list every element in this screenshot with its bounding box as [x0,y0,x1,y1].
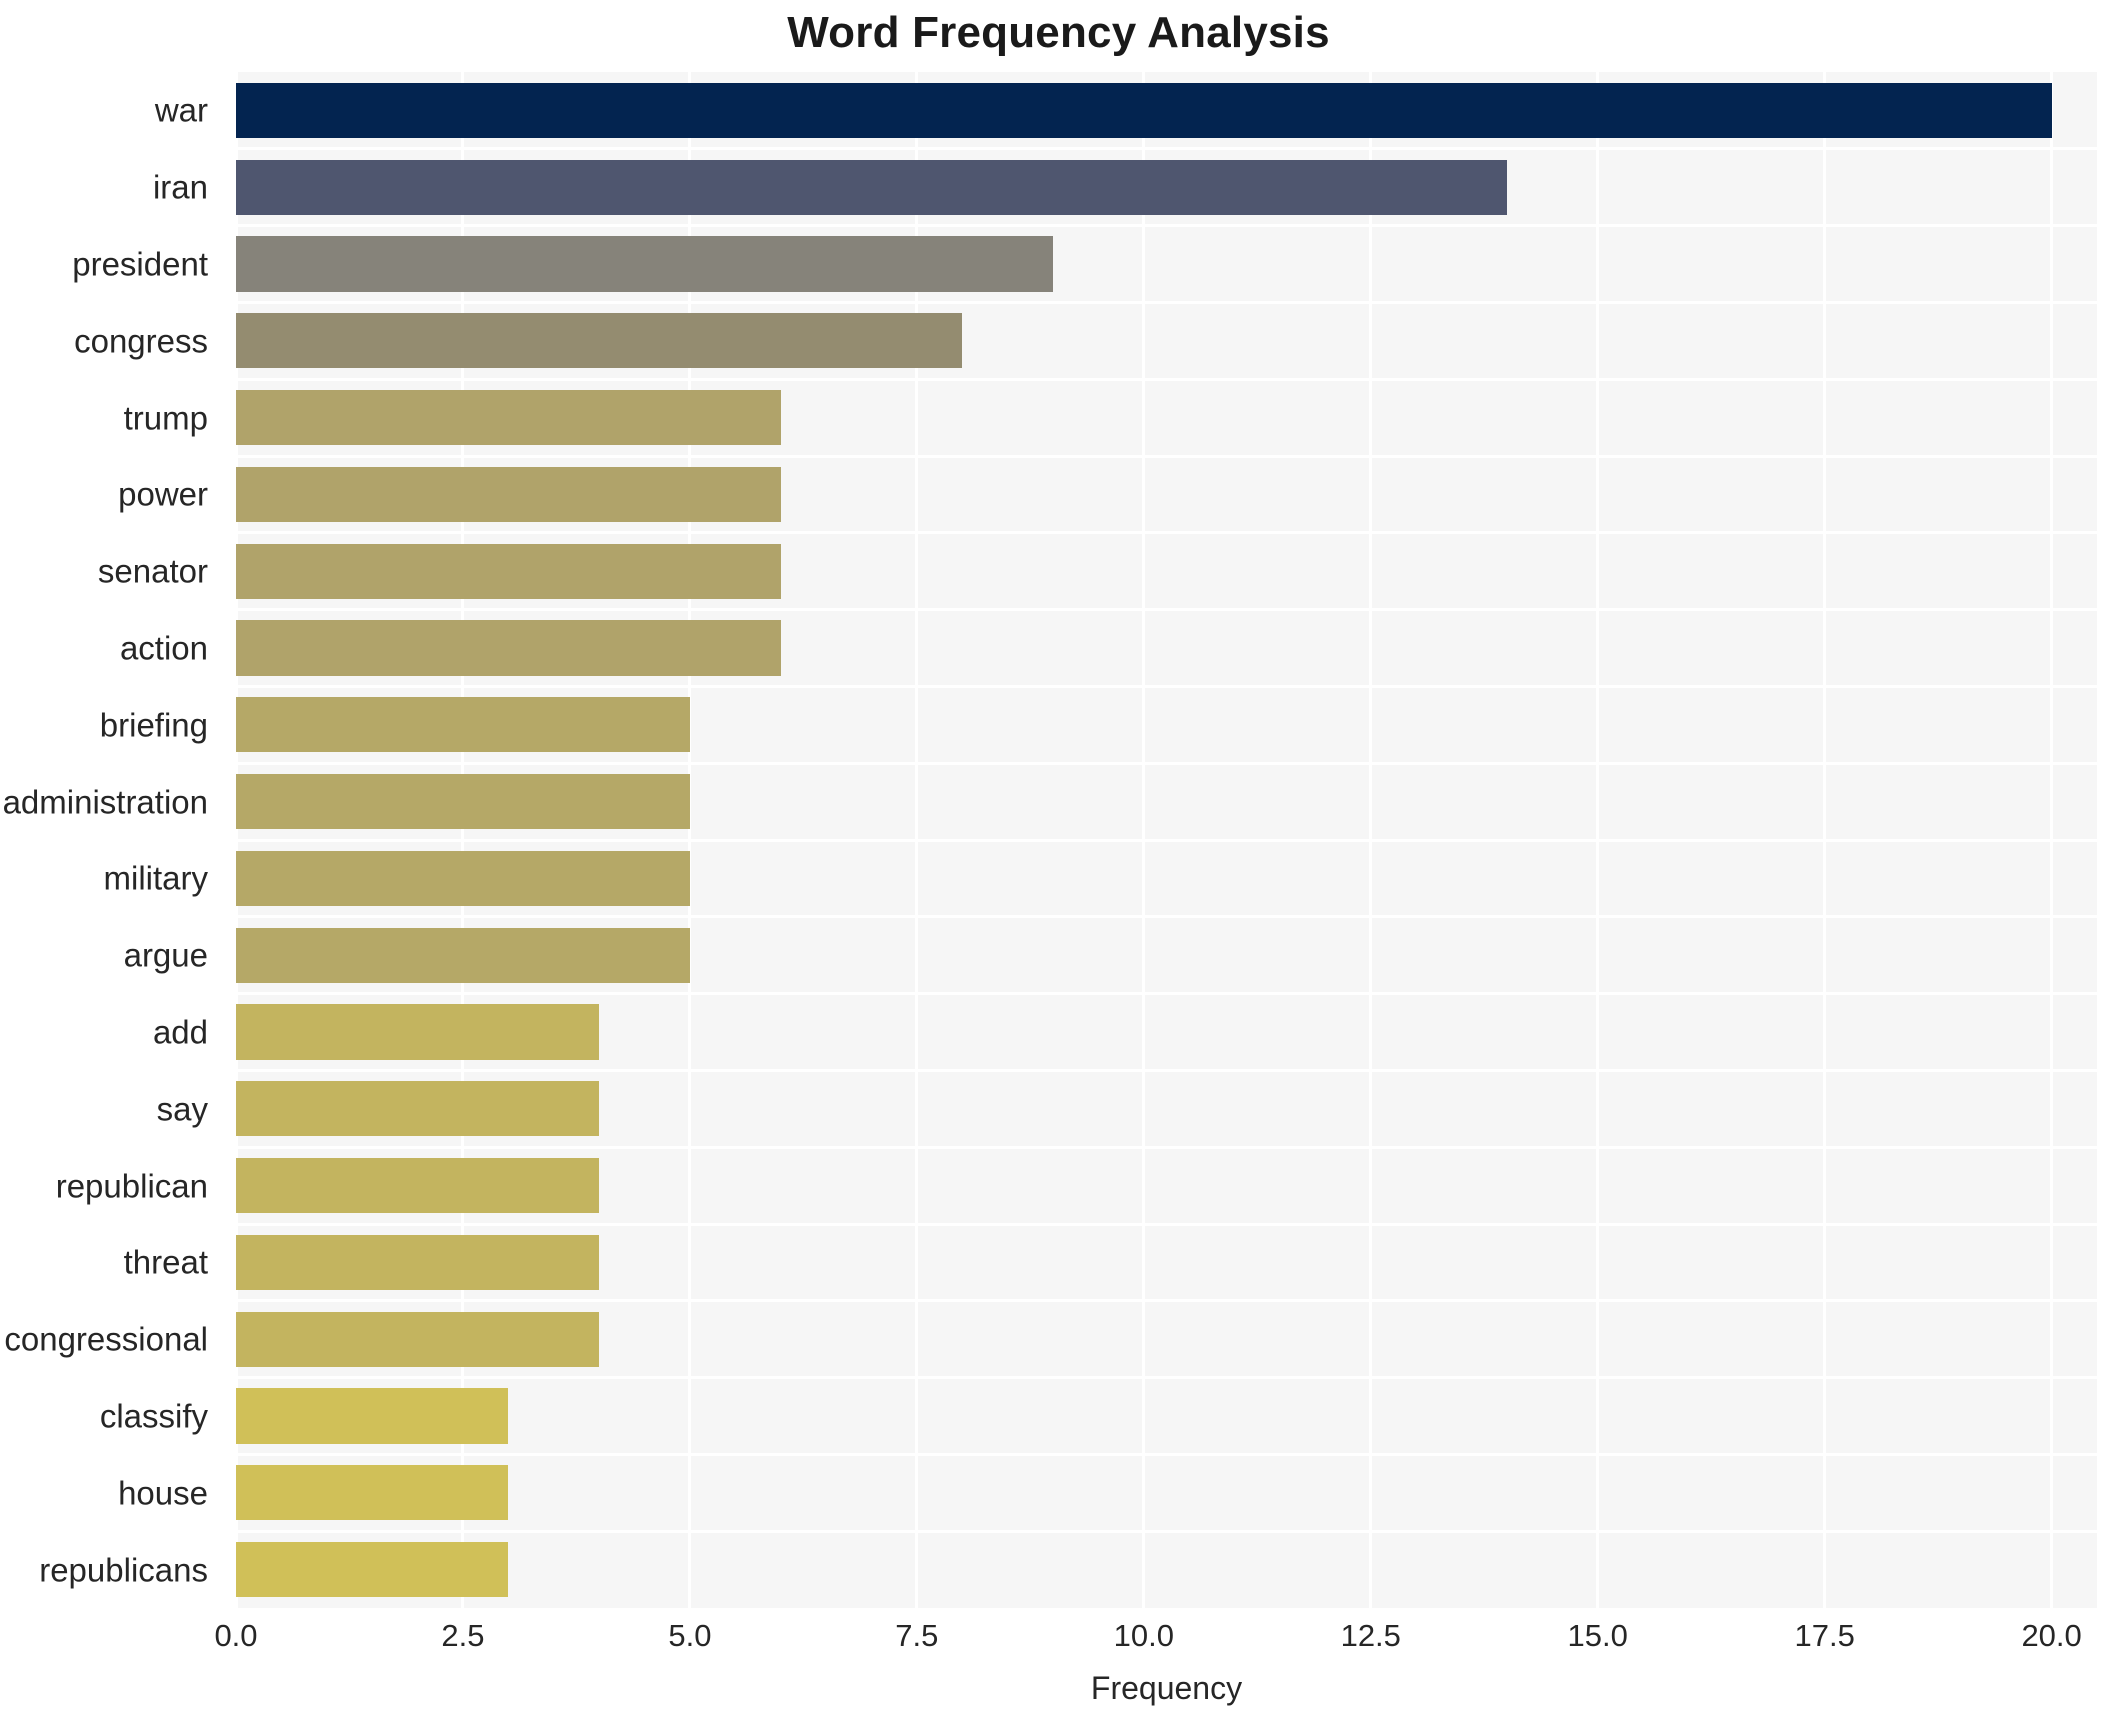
bar [236,1542,508,1597]
bar [236,236,1053,291]
bar [236,851,690,906]
bar [236,544,781,599]
y-axis-label: president [72,248,208,281]
gridline-horizontal [236,455,2097,458]
y-axis-label: house [118,1476,208,1509]
bar [236,160,1507,215]
gridline-horizontal [236,531,2097,534]
bar [236,774,690,829]
x-axis-title: Frequency [236,1672,2097,1704]
y-axis-label: military [104,862,209,895]
gridline-horizontal [236,224,2097,227]
gridline-horizontal [236,1069,2097,1072]
x-axis-tick-label: 7.5 [895,1620,938,1651]
gridline-horizontal [236,1146,2097,1149]
gridline-horizontal [236,1223,2097,1226]
gridline-horizontal [236,378,2097,381]
gridline-horizontal [236,1530,2097,1533]
x-axis-tick-label: 10.0 [1114,1620,1174,1651]
x-axis-tick-label: 12.5 [1341,1620,1401,1651]
y-axis-label: iran [153,171,208,204]
bar [236,83,2052,138]
gridline-horizontal [236,685,2097,688]
bar [236,1004,599,1059]
gridline-horizontal [236,915,2097,918]
y-axis-label: republicans [39,1553,208,1586]
bar [236,1081,599,1136]
gridline-horizontal [236,1376,2097,1379]
gridline-horizontal [236,839,2097,842]
x-axis-tick-label: 5.0 [668,1620,711,1651]
y-axis-label: administration [3,785,208,818]
y-axis-label: classify [100,1400,208,1433]
word-frequency-chart-figure: Word Frequency Analysis wariranpresident… [0,0,2117,1710]
y-axis-label: add [153,1016,208,1049]
y-axis-label: congress [74,324,208,357]
y-axis-label: war [155,94,208,127]
bar [236,390,781,445]
y-axis-label: say [157,1092,208,1125]
bar [236,620,781,675]
y-axis-label: briefing [100,708,208,741]
y-axis-label: congressional [4,1323,208,1356]
bar [236,697,690,752]
gridline-horizontal [236,762,2097,765]
bar [236,1465,508,1520]
gridline-horizontal [236,301,2097,304]
x-axis-tick-label: 2.5 [441,1620,484,1651]
gridline-horizontal [236,608,2097,611]
x-axis-tick-labels: 0.02.55.07.510.012.515.017.520.0 [0,1620,2117,1670]
y-axis-category-labels: wariranpresidentcongresstrumppowersenato… [0,72,222,1608]
x-axis-tick-label: 0.0 [214,1620,257,1651]
gridline-horizontal [236,1453,2097,1456]
y-axis-label: argue [124,939,208,972]
plot-area [236,72,2097,1608]
y-axis-label: action [120,632,208,665]
chart-title: Word Frequency Analysis [0,8,2117,58]
x-axis-tick-label: 20.0 [2021,1620,2081,1651]
gridline-horizontal [236,992,2097,995]
x-axis-tick-label: 17.5 [1794,1620,1854,1651]
bar [236,467,781,522]
y-axis-label: trump [124,401,208,434]
bar [236,313,962,368]
bar [236,1388,508,1443]
y-axis-label: power [118,478,208,511]
gridline-horizontal [236,1299,2097,1302]
bar [236,1158,599,1213]
bar [236,928,690,983]
bar [236,1235,599,1290]
y-axis-label: threat [124,1246,208,1279]
gridline-horizontal [236,147,2097,150]
x-axis-tick-label: 15.0 [1568,1620,1628,1651]
bar [236,1312,599,1367]
y-axis-label: republican [56,1169,208,1202]
y-axis-label: senator [98,555,208,588]
